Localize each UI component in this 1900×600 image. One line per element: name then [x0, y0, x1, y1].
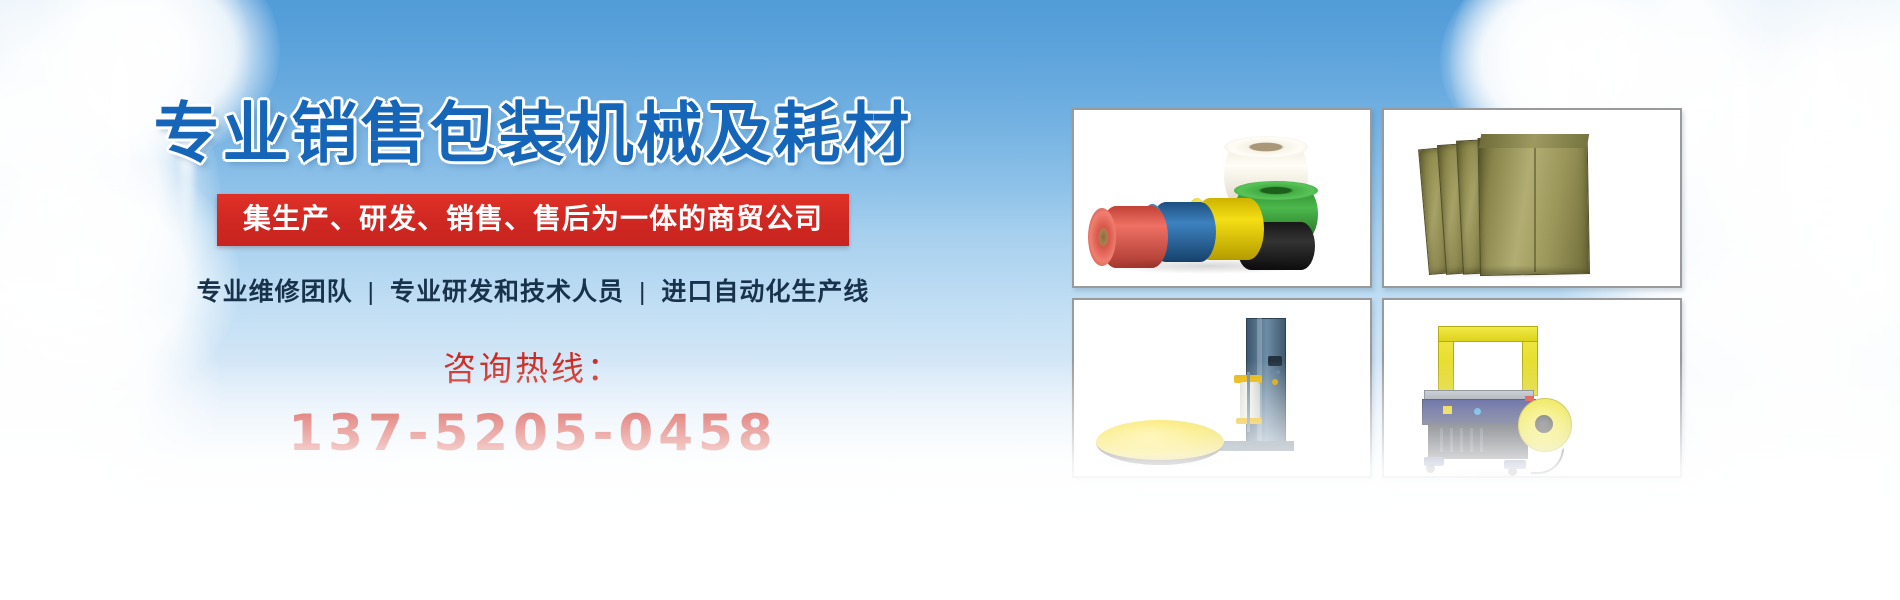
- wrapper-stretch-film-roll: [1240, 382, 1260, 420]
- cloud-streak-decoration: [1732, 30, 1750, 250]
- machine-vent: [1450, 428, 1453, 452]
- product-card-packing-straps[interactable]: [1072, 108, 1372, 288]
- machine-lower-cabinet: [1428, 423, 1528, 459]
- hero-banner: 专业销售包装机械及耗材 集生产、研发、销售、售后为一体的商贸公司 专业维修团队 …: [0, 0, 1900, 600]
- feature-item-2: 专业研发和技术人员: [390, 278, 624, 306]
- stretch-wrapper-illustration: [1074, 300, 1370, 476]
- machine-vent: [1440, 428, 1443, 452]
- woven-bag-top-edge: [1479, 134, 1589, 148]
- banner-copy-block: 专业销售包装机械及耗材 集生产、研发、销售、售后为一体的商贸公司 专业维修团队 …: [0, 100, 1050, 462]
- machine-strap-reel-hub: [1535, 415, 1553, 433]
- product-shadow: [1100, 258, 1315, 274]
- hotline-label: 咨询热线：: [0, 342, 1050, 390]
- feature-separator: |: [361, 278, 383, 306]
- product-shadow: [1096, 455, 1224, 467]
- machine-vent: [1460, 428, 1463, 452]
- cloud-streak-decoration: [1814, 10, 1840, 270]
- banner-headline: 专业销售包装机械及耗材: [0, 100, 1050, 166]
- strapping-machine-illustration: [1384, 300, 1680, 476]
- wrapper-control-display: [1268, 356, 1282, 366]
- feature-list: 专业维修团队 | 专业研发和技术人员 | 进口自动化生产线: [0, 272, 1050, 308]
- machine-arch-top: [1438, 326, 1538, 342]
- machine-vent: [1480, 428, 1483, 452]
- wrapper-carriage-rail: [1247, 372, 1250, 432]
- product-shadow: [1422, 470, 1572, 478]
- machine-warning-label: [1443, 406, 1452, 414]
- product-card-stretch-wrapper[interactable]: [1072, 298, 1372, 478]
- cloud-decoration: [1730, 0, 1900, 380]
- wrapper-control-knob: [1272, 379, 1278, 385]
- packing-straps-illustration: [1074, 110, 1370, 286]
- wrapper-control-button: [1276, 370, 1280, 374]
- woven-bag-crease: [1534, 140, 1536, 272]
- feature-separator: |: [632, 278, 654, 306]
- product-image-grid: [1072, 108, 1682, 478]
- product-card-strapping-machine[interactable]: [1382, 298, 1682, 478]
- wrapper-control-button: [1270, 370, 1274, 374]
- woven-bags-illustration: [1384, 110, 1680, 286]
- tagline-bar: 集生产、研发、销售、售后为一体的商贸公司: [217, 194, 849, 246]
- machine-brand-badge: [1474, 408, 1481, 415]
- machine-vent: [1470, 428, 1473, 452]
- feature-item-3: 进口自动化生产线: [661, 278, 869, 306]
- feature-item-1: 专业维修团队: [197, 278, 353, 306]
- product-shadow: [1428, 265, 1598, 279]
- tagline-bar-wrapper: 集生产、研发、销售、售后为一体的商贸公司: [0, 194, 1050, 246]
- product-card-woven-bags[interactable]: [1382, 108, 1682, 288]
- hotline-number[interactable]: 137-5205-0458: [0, 404, 1050, 462]
